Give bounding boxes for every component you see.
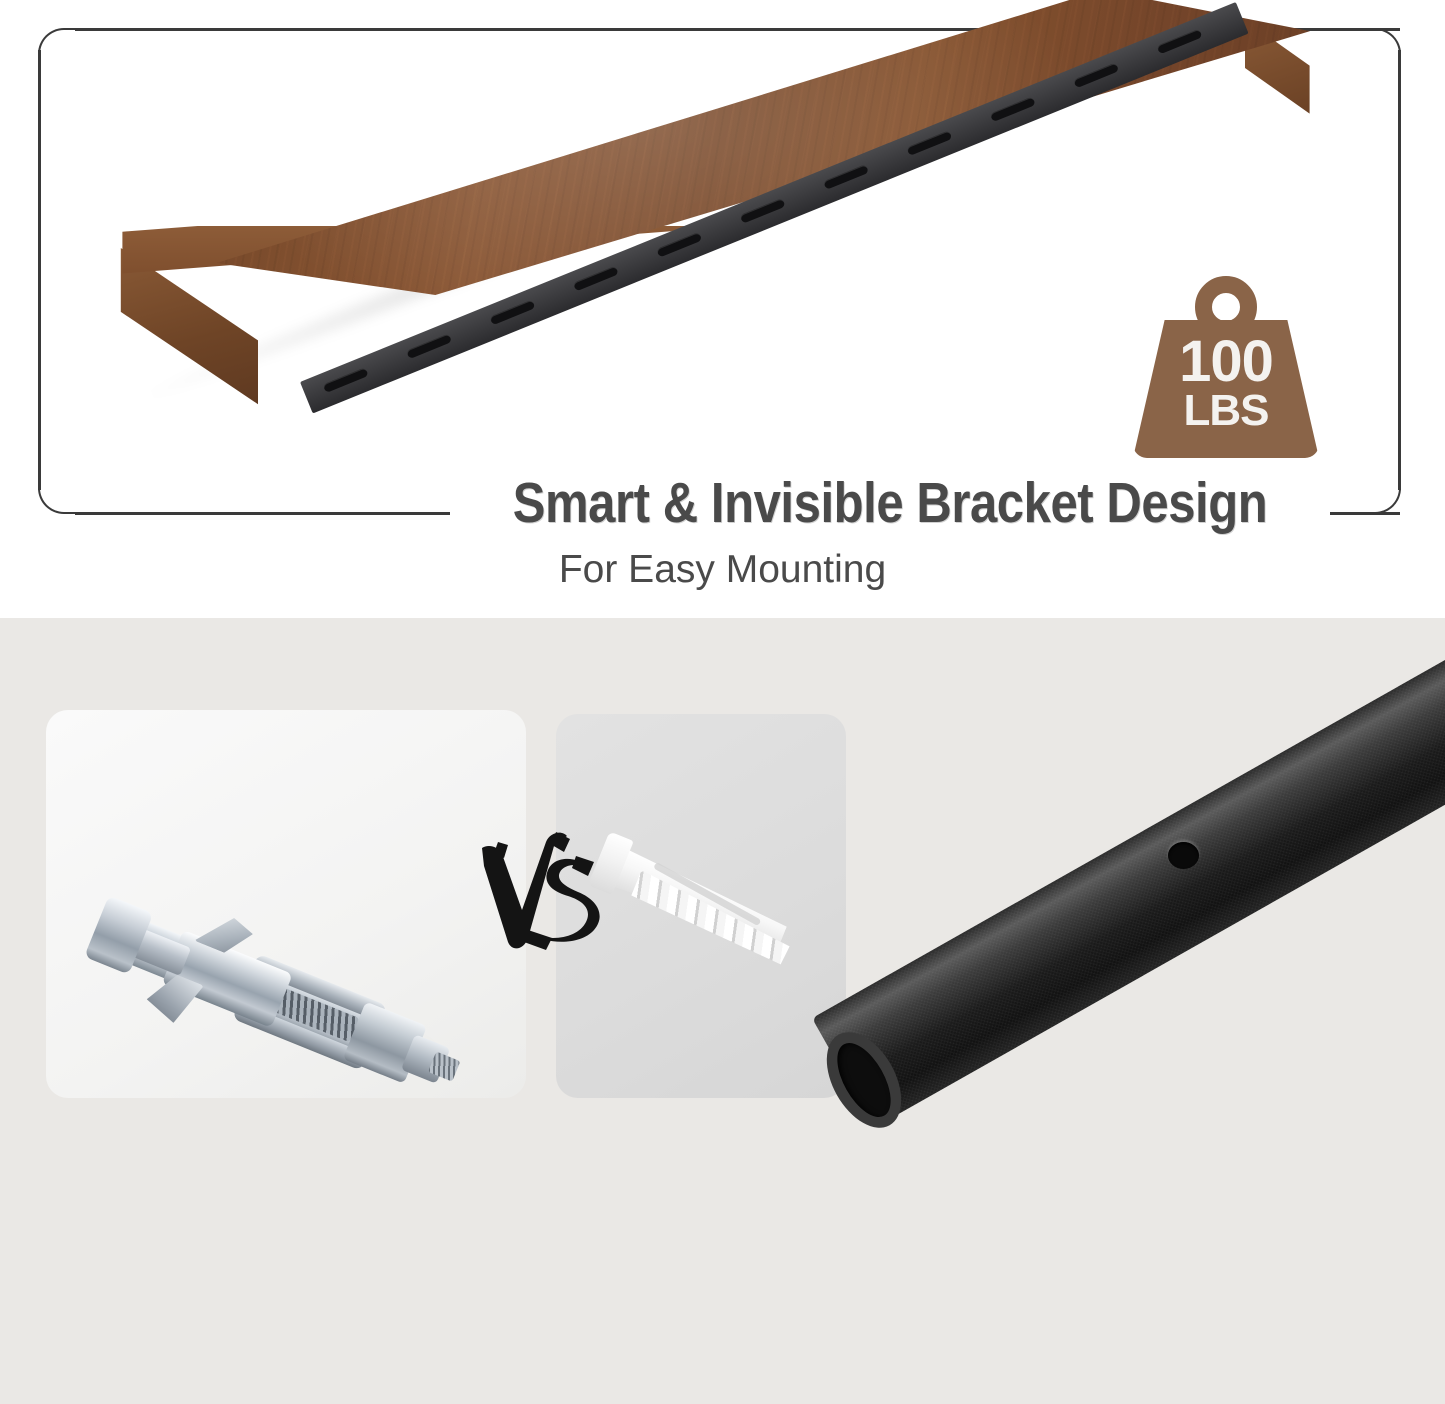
bracket-slot xyxy=(906,130,952,156)
metal-anchor-icon xyxy=(35,835,499,1178)
weight-badge-text: 100 LBS xyxy=(1133,334,1319,432)
pipe-texture xyxy=(812,644,1445,1128)
weight-unit: LBS xyxy=(1133,390,1319,432)
frame-corner-top-right xyxy=(1353,28,1401,76)
iron-pipe-photo xyxy=(843,680,1445,1240)
infographic-page: 100 LBS Smart & Invisible Bracket Design… xyxy=(0,0,1445,1404)
bracket-slot xyxy=(406,334,452,360)
metal-anchor-card xyxy=(46,710,526,1098)
bracket-slot xyxy=(740,198,786,224)
bracket-slot xyxy=(1073,63,1119,89)
headline-title: Smart & Invisible Bracket Design xyxy=(512,470,1269,536)
bracket-slot xyxy=(990,96,1036,122)
headline-subtitle: For Easy Mounting xyxy=(0,548,1445,592)
top-panel-bracket-design: 100 LBS Smart & Invisible Bracket Design… xyxy=(0,0,1445,618)
bracket-slot xyxy=(573,266,619,292)
weight-capacity-badge: 100 LBS xyxy=(1133,276,1319,458)
frame-corner-bottom-right xyxy=(1353,466,1401,514)
weight-number: 100 xyxy=(1133,334,1319,390)
frame-corner-bottom-left xyxy=(38,466,86,514)
bracket-slot xyxy=(656,232,702,258)
bracket-slot xyxy=(323,367,369,393)
pipe-screw-hole xyxy=(1168,842,1199,869)
bracket-slot xyxy=(823,164,869,190)
frame-bottom-left-edge xyxy=(75,512,450,515)
bottom-panel-materials: Upgrade Metal Anchors heavy-duty Made of… xyxy=(0,618,1445,1404)
frame-right-edge xyxy=(1398,50,1401,490)
bracket-slot xyxy=(489,300,535,326)
vs-icon xyxy=(468,826,618,966)
bracket-slot xyxy=(1157,29,1203,55)
